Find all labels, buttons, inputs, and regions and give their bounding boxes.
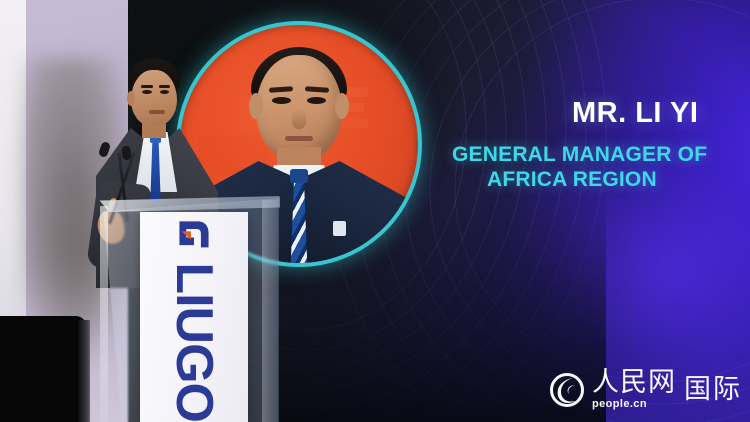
speaker-brow-left — [141, 85, 153, 88]
portrait-lapel-badge — [333, 221, 346, 236]
stage-black-table-edge — [78, 320, 90, 422]
speaker-ear — [127, 91, 135, 106]
portrait-eye-left — [272, 97, 291, 104]
portrait-tie-knot — [290, 169, 308, 183]
screen-title-line-1: GENERAL MANAGER OF — [452, 143, 707, 167]
watermark-text-stack: 人民网 people.cn — [592, 369, 676, 410]
speaker-face — [131, 70, 177, 126]
stage-black-table — [0, 316, 86, 422]
screen-speaker-name: MR. LI YI — [572, 97, 698, 130]
microphone-head-right — [121, 146, 132, 161]
speaker-eye-right — [160, 90, 169, 94]
podium-left-edge — [100, 206, 108, 422]
podium-logo-rotated: LIUGO — [140, 212, 248, 422]
portrait-mouth — [285, 136, 313, 141]
portrait-eye-right — [307, 97, 326, 104]
watermark-domain: people.cn — [592, 399, 647, 410]
portrait-nose — [292, 109, 306, 129]
portrait-ear-right — [335, 93, 349, 119]
liugong-logo-icon — [155, 216, 233, 254]
podium-logo-panel: LIUGO — [140, 212, 248, 422]
podium-brand-text: LIUGO — [168, 262, 220, 422]
portrait-face — [256, 55, 342, 161]
screen-title-line-2: AFRICA REGION — [487, 168, 657, 192]
screenshot-stage: MR. LI YI GENERAL MANAGER OF AFRICA REGI… — [0, 0, 750, 422]
watermark-chinese-name: 人民网 — [592, 369, 676, 396]
portrait-ear-left — [249, 93, 263, 119]
watermark-section-label: 国际 — [684, 376, 742, 403]
watermark: 人民网 people.cn 国际 — [550, 369, 742, 410]
people-cn-logo-icon — [550, 373, 584, 407]
podium-right-face — [262, 200, 278, 422]
speaker-brow-right — [159, 85, 170, 88]
speaker-eye-left — [142, 90, 152, 94]
speaker-mouth — [149, 110, 165, 114]
